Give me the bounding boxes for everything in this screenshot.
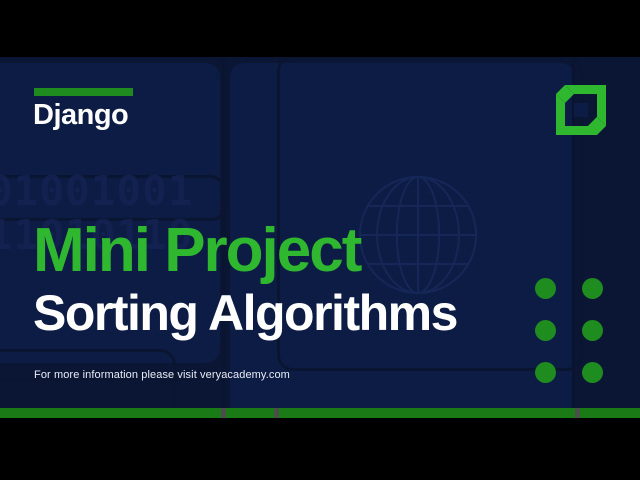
headline-secondary: Sorting Algorithms [33,288,457,338]
eyebrow-label: Django [33,101,128,130]
decor-dot [582,362,603,383]
eyebrow-accent-rule [34,88,133,96]
veryacademy-logo [556,85,606,135]
title-slide: 01001001 11010110 Django Mini Project So… [0,57,640,418]
headline-primary: Mini Project [33,220,360,282]
video-frame: 01001001 11010110 Django Mini Project So… [0,0,640,480]
accent-bar-notch [575,408,580,418]
bottom-accent-bar [0,408,640,418]
decor-dot [582,278,603,299]
decor-dot [535,278,556,299]
footer-note: For more information please visit veryac… [34,370,290,381]
decor-dot [535,362,556,383]
decor-dot [582,320,603,341]
letterbox-top [0,0,640,57]
globe-wireframe-icon [352,169,484,301]
decor-dot [535,320,556,341]
accent-bar-notch [274,408,279,418]
letterbox-bottom [0,418,640,480]
accent-bar-notch [221,408,226,418]
